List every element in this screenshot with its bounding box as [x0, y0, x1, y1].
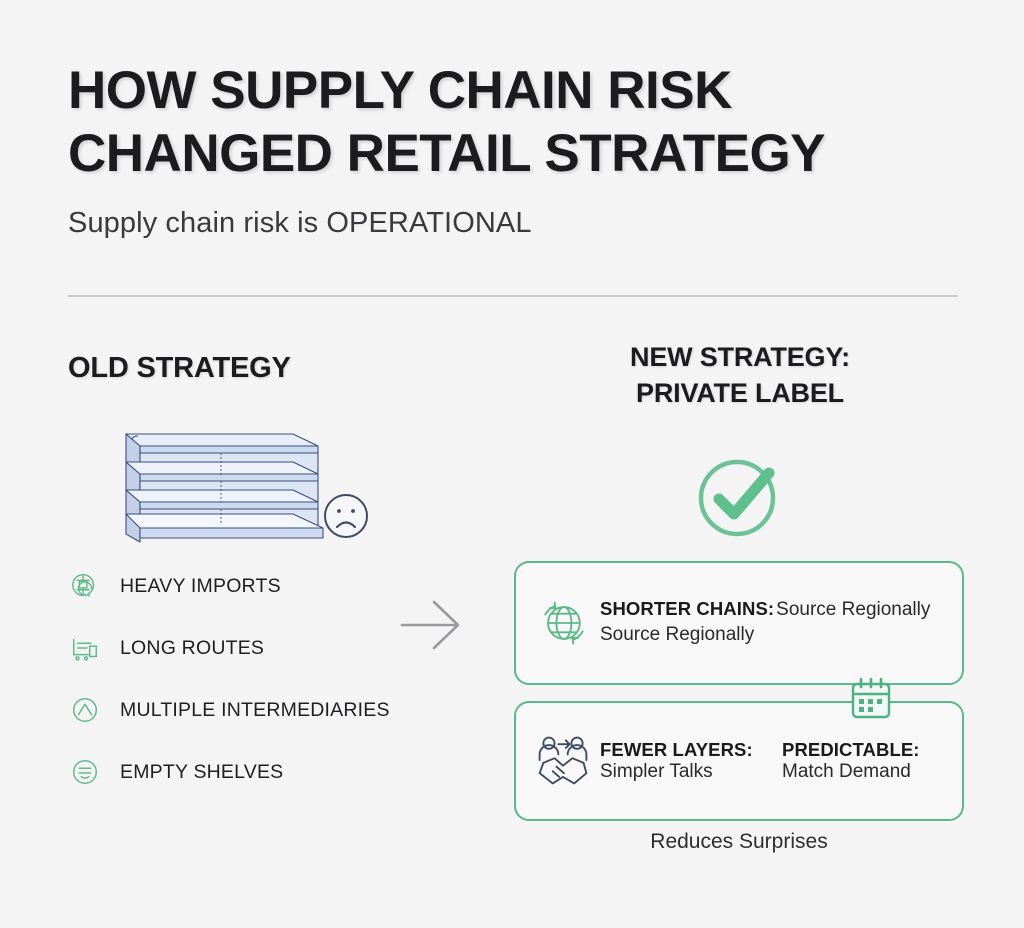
new-strategy-heading-line2: PRIVATE LABEL — [505, 376, 975, 412]
list-item: EMPTY SHELVES — [68, 741, 468, 803]
card-label: FEWER LAYERS: — [600, 739, 782, 761]
bullet-label: EMPTY SHELVES — [120, 761, 283, 784]
chevron-circle-icon — [68, 693, 102, 727]
card-label: SHORTER CHAINS: — [600, 598, 774, 619]
check-circle-icon — [693, 450, 785, 542]
lines-circle-icon — [68, 755, 102, 789]
new-strategy-heading-line1: NEW STRATEGY: — [505, 340, 975, 376]
bullet-label: LONG ROUTES — [120, 637, 264, 660]
new-strategy-column: NEW STRATEGY: PRIVATE LABEL — [505, 340, 975, 411]
calendar-icon — [847, 675, 895, 723]
handshake-icon — [532, 730, 594, 792]
new-strategy-caption: Reduces Surprises — [514, 830, 964, 854]
page-subtitle: Supply chain risk is OPERATIONAL — [68, 207, 968, 240]
header: HOW SUPPLY CHAIN RISK CHANGED RETAIL STR… — [68, 60, 968, 240]
header-divider — [68, 295, 958, 297]
empty-shelving-illustration — [118, 428, 338, 543]
card-value-inline: Source Regionally — [776, 599, 930, 620]
kv-predictable: PREDICTABLE: Match Demand — [782, 739, 920, 783]
bullet-label: HEAVY IMPORTS — [120, 575, 281, 598]
globe-shipping-icon — [68, 569, 102, 603]
card-value: Match Demand — [782, 761, 920, 783]
old-strategy-heading: OLD STRATEGY — [68, 352, 468, 385]
infographic-root: HOW SUPPLY CHAIN RISK CHANGED RETAIL STR… — [0, 0, 1024, 928]
card-label: PREDICTABLE: — [782, 739, 920, 761]
card-value: Simpler Talks — [600, 761, 782, 783]
page-title: HOW SUPPLY CHAIN RISK CHANGED RETAIL STR… — [68, 60, 898, 185]
card-fewer-layers: FEWER LAYERS: Simpler Talks PREDICTABLE:… — [514, 701, 964, 821]
sad-face-icon — [320, 490, 372, 542]
bullet-label: MULTIPLE INTERMEDIARIES — [120, 699, 390, 722]
kv-fewer-layers: FEWER LAYERS: Simpler Talks — [600, 739, 782, 783]
globe-refresh-icon — [532, 592, 594, 654]
right-arrow-icon — [398, 590, 468, 660]
new-strategy-heading: NEW STRATEGY: PRIVATE LABEL — [505, 340, 975, 411]
list-item: MULTIPLE INTERMEDIARIES — [68, 679, 468, 741]
old-strategy-column: OLD STRATEGY — [68, 352, 468, 385]
card-shorter-chains: SHORTER CHAINS:Source Regionally Source … — [514, 561, 964, 685]
card-value-wrapped: Source Regionally — [600, 624, 754, 645]
delivery-cart-icon — [68, 631, 102, 665]
